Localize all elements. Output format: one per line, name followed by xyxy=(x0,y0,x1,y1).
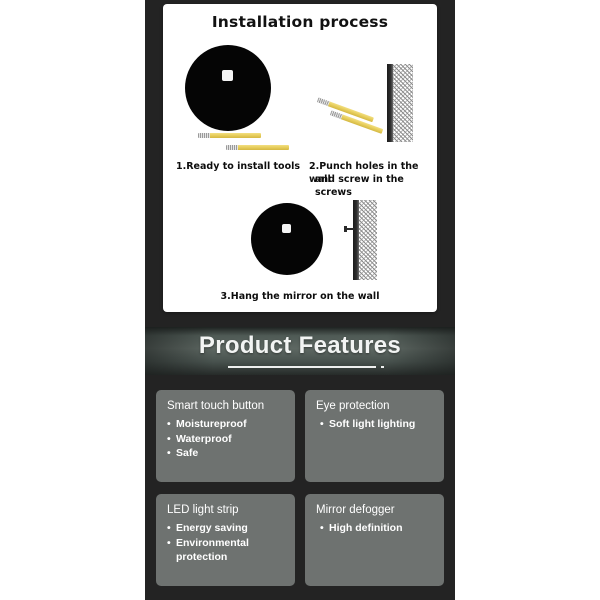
installation-title: Installation process xyxy=(163,13,437,31)
step-3-caption: 3.Hang the mirror on the wall xyxy=(200,290,400,303)
feature-bullet: Moistureproof xyxy=(167,417,285,432)
mirror-disc-step3 xyxy=(251,203,323,275)
feature-card-eye-protection[interactable]: Eye protection Soft light lighting xyxy=(305,390,444,482)
feature-bullet: Energy saving xyxy=(167,521,285,536)
feature-card-led-light-strip[interactable]: LED light strip Energy saving Environmen… xyxy=(156,494,295,586)
wall-hatch-fill-step3 xyxy=(359,200,377,280)
wall-mounted-screw xyxy=(346,228,355,230)
feature-bullet: Safe xyxy=(167,446,285,461)
feature-card-title: Eye protection xyxy=(316,399,434,413)
feature-card-mirror-defogger[interactable]: Mirror defogger High definition xyxy=(305,494,444,586)
touch-button-dot-step3 xyxy=(282,224,291,233)
screw-step1-b xyxy=(237,145,289,150)
product-features-title: Product Features xyxy=(145,332,455,360)
feature-bullet-list: Soft light lighting xyxy=(316,417,434,432)
feature-bullet: Soft light lighting xyxy=(316,417,434,432)
wall-cross-section-step2 xyxy=(387,64,413,142)
feature-bullet: Waterproof xyxy=(167,432,285,447)
screw-step1-a xyxy=(209,133,261,138)
touch-button-dot xyxy=(222,70,233,81)
product-detail-page: Installation process 1.Ready to install … xyxy=(0,0,600,600)
feature-bullet: Environmental protection xyxy=(167,536,285,565)
wall-cross-section-step3 xyxy=(353,200,377,280)
mirror-disc-step1 xyxy=(185,45,271,131)
feature-bullet-list: High definition xyxy=(316,521,434,536)
feature-card-smart-touch-button[interactable]: Smart touch button Moistureproof Waterpr… xyxy=(156,390,295,482)
feature-cards-grid: Smart touch button Moistureproof Waterpr… xyxy=(156,390,444,586)
feature-bullet: High definition xyxy=(316,521,434,536)
title-underline xyxy=(228,366,376,368)
product-features-banner: Product Features xyxy=(145,327,455,375)
step-2-caption-line-2: and screw in the screws xyxy=(315,173,437,199)
installation-process-panel: Installation process 1.Ready to install … xyxy=(163,4,437,312)
wall-hatch-fill xyxy=(393,64,413,142)
feature-bullet-list: Energy saving Environmental protection xyxy=(167,521,285,565)
feature-card-title: Smart touch button xyxy=(167,399,285,413)
feature-card-title: Mirror defogger xyxy=(316,503,434,517)
feature-card-title: LED light strip xyxy=(167,503,285,517)
feature-bullet-list: Moistureproof Waterproof Safe xyxy=(167,417,285,461)
